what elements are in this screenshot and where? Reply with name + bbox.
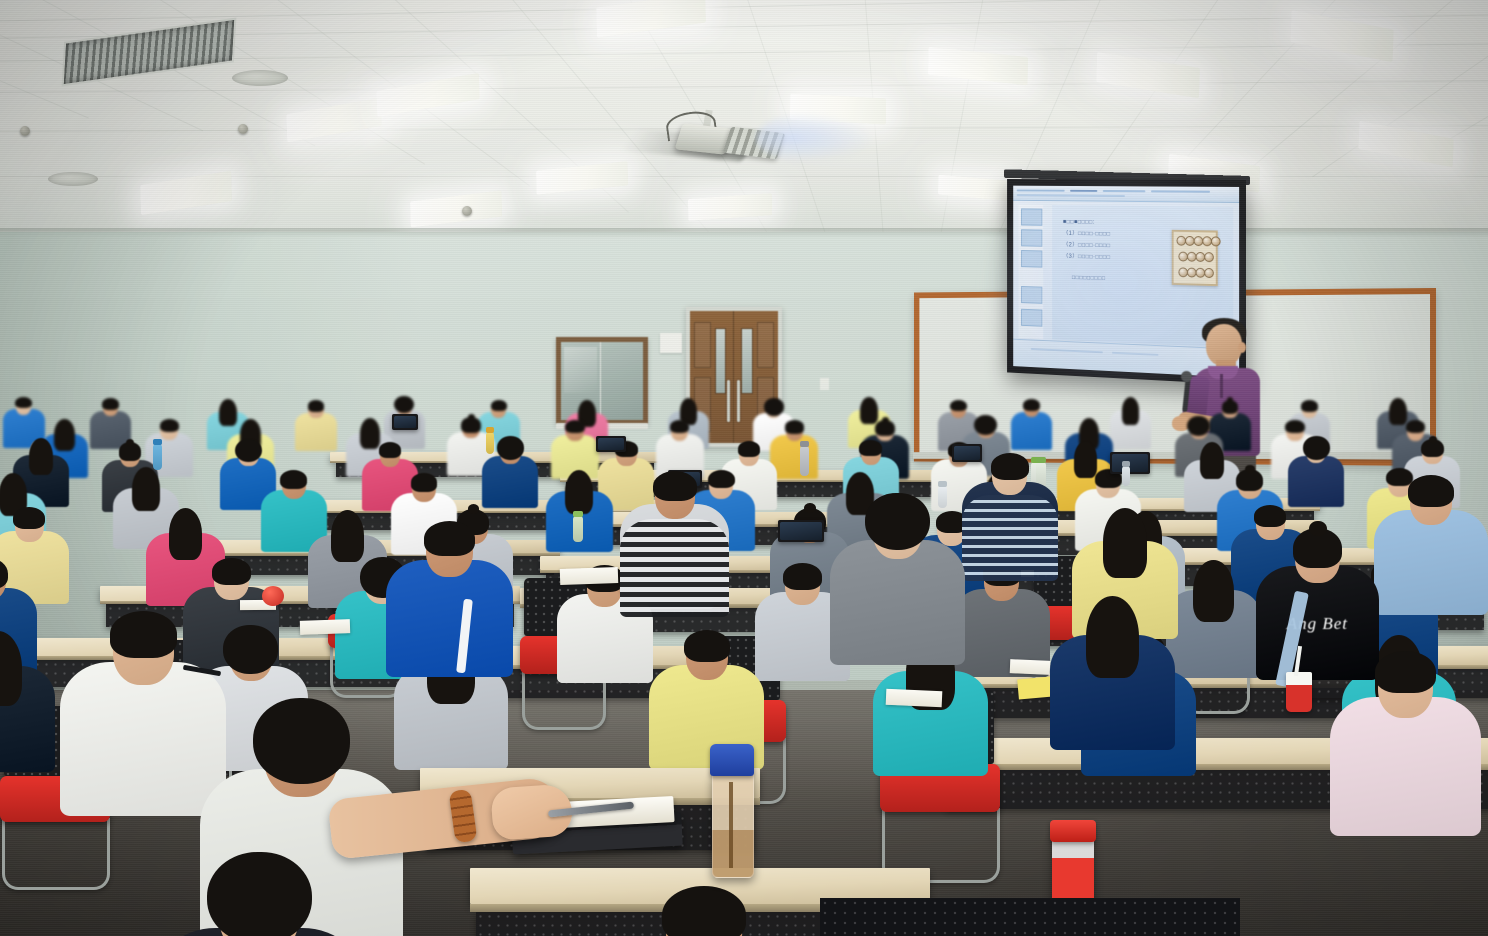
audience-hair <box>15 397 32 409</box>
shirt-stripes <box>620 519 729 617</box>
audience-hair <box>1285 420 1304 433</box>
bottle-cap <box>153 439 162 445</box>
audience-hair <box>29 438 53 475</box>
audience-hair <box>950 400 967 412</box>
shirt-stripes <box>962 495 1058 581</box>
audience-torso <box>1011 412 1053 450</box>
audience-torso <box>482 456 538 508</box>
audience-member <box>770 420 818 484</box>
audience-torso <box>830 540 965 665</box>
audience-member <box>1288 438 1344 514</box>
audience-hair <box>110 611 177 657</box>
audience-hair <box>1254 505 1286 527</box>
laptop <box>596 436 626 452</box>
shirt-script-text: Ang Bet <box>1268 614 1366 634</box>
bottle-cap <box>486 427 494 433</box>
audience-member <box>1330 650 1481 853</box>
audience-hair <box>1301 400 1318 412</box>
audience-hair <box>223 625 278 673</box>
audience-hair <box>865 493 930 550</box>
audience-member <box>830 498 965 680</box>
audience-hair <box>1303 436 1330 460</box>
audience-hair-bun <box>1429 436 1437 443</box>
paper-cup-red <box>1286 672 1312 712</box>
audience-torso <box>1374 510 1488 616</box>
audience-hair <box>565 470 593 514</box>
audience-hair <box>738 441 761 457</box>
classroom-photo: ■□□■□□□□: （1）□□□□·□□□□ （2）□□□□·□□□□ （3）□… <box>0 0 1488 936</box>
paper-sheet <box>1010 659 1051 675</box>
audience-hair <box>253 698 351 784</box>
bottle <box>1122 466 1130 486</box>
audience-hair <box>102 398 119 410</box>
laptop-screen <box>598 438 624 450</box>
laptop-screen <box>1112 454 1148 472</box>
audience-hair <box>331 510 364 562</box>
audience-member <box>620 470 729 617</box>
audience-hair <box>160 419 179 432</box>
sticky-note-yellow <box>1017 677 1053 700</box>
bottle-cap <box>573 511 583 517</box>
paper-sheet <box>886 689 943 707</box>
audience-torso <box>386 560 513 677</box>
audience-hair <box>491 400 508 412</box>
bottle <box>486 432 494 454</box>
audience-hair <box>565 420 584 433</box>
audience-hair <box>684 630 730 662</box>
bottle-cap <box>800 441 809 447</box>
audience-member <box>1011 399 1053 455</box>
foreground-desk-panel <box>820 898 1240 936</box>
audience-hair <box>169 508 202 560</box>
audience-hair <box>13 507 45 529</box>
laptop-screen <box>780 522 822 540</box>
audience-member <box>386 520 513 691</box>
audience-hair <box>1122 397 1140 424</box>
audience-hair <box>207 852 312 936</box>
audience-hair <box>1375 651 1436 693</box>
paper-sheet <box>560 567 618 585</box>
audience-hair-bun <box>882 417 889 423</box>
audience-member <box>962 452 1058 581</box>
audience-hair <box>974 415 997 435</box>
audience-member <box>1050 596 1175 764</box>
audience-hair <box>235 439 262 463</box>
bottle <box>153 444 162 470</box>
audience-member <box>1110 397 1152 453</box>
audience-torso <box>1288 456 1344 508</box>
bottle-cap <box>938 481 947 487</box>
audience-hair <box>653 471 697 501</box>
laptop <box>1110 452 1150 474</box>
audience-member <box>1374 474 1488 628</box>
audience-hair <box>1406 420 1425 433</box>
audience-torso <box>295 413 337 451</box>
audience-hair <box>859 440 882 456</box>
audience-hair <box>764 398 784 416</box>
audience-hair <box>670 420 689 433</box>
bottle-cap <box>1122 461 1130 467</box>
audience-member <box>0 631 55 785</box>
audience-hair <box>379 442 402 458</box>
red-object <box>262 586 284 606</box>
audience-torso <box>770 435 818 479</box>
audience-hair <box>497 436 524 460</box>
bottle <box>573 516 583 542</box>
audience-hair <box>1086 596 1139 678</box>
audience-hair <box>1103 508 1148 578</box>
laptop <box>778 520 824 542</box>
audience-hair <box>1408 475 1454 507</box>
bottle-cap-red <box>1050 820 1096 842</box>
audience-hair <box>0 558 8 590</box>
laptop <box>392 414 418 430</box>
laptop-screen <box>394 416 416 428</box>
audience-hair <box>0 631 22 706</box>
bottle-cap-blue <box>710 744 754 776</box>
audience-torso <box>1330 697 1481 836</box>
audience-hair <box>1023 399 1040 411</box>
audience-hair <box>783 563 822 590</box>
audience-hair-bun <box>1227 397 1233 402</box>
audience-hair <box>785 420 804 433</box>
audience-hair-bun <box>1309 521 1327 536</box>
water-bottle-blue-cap <box>712 772 754 878</box>
paper-sheet <box>300 619 350 635</box>
audience-member <box>150 860 368 936</box>
audience-hair <box>212 558 251 585</box>
audience-hair <box>1193 560 1233 623</box>
audience-hair <box>132 467 160 511</box>
audience-hair-bun <box>468 414 475 420</box>
audience-hair <box>280 470 307 489</box>
audience-hair <box>424 521 475 556</box>
audience-member <box>600 884 808 936</box>
bottle <box>800 446 809 476</box>
audience-hair-bun <box>804 503 815 513</box>
tea-leaves <box>729 782 733 868</box>
audience-hair-bun <box>1245 465 1255 473</box>
audience-hair <box>308 400 325 412</box>
audience-hair <box>411 473 438 492</box>
audience-hair <box>991 453 1030 480</box>
audience-hair <box>662 886 746 936</box>
audience-member <box>295 400 337 456</box>
